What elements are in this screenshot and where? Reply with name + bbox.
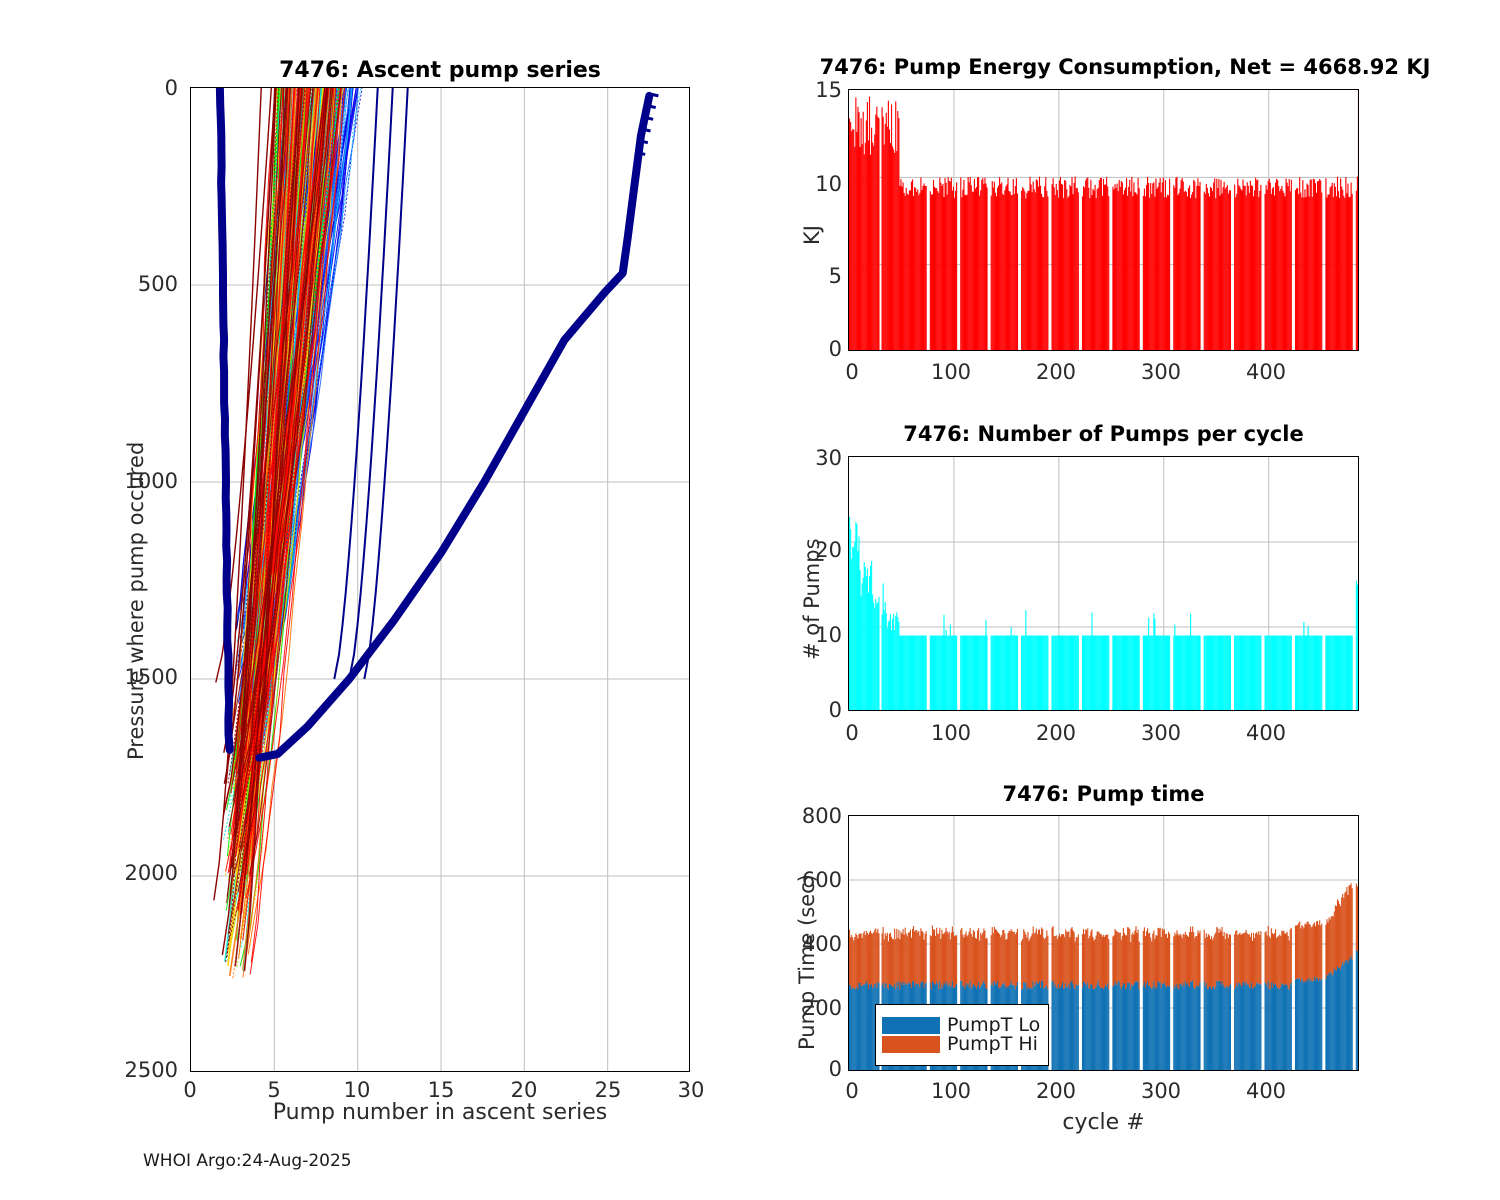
ascent-xtick-20: 20: [502, 1078, 546, 1102]
numpumps-xtick-400: 400: [1236, 721, 1296, 745]
legend-entry-pumpt-lo: PumpT Lo: [882, 1017, 1042, 1034]
ascent-xtick-25: 25: [586, 1078, 630, 1102]
ascent-ytick-2000: 2000: [120, 861, 178, 885]
legend-entry-pumpt-hi: PumpT Hi: [882, 1036, 1042, 1053]
pumptime-ytick-800: 800: [778, 804, 842, 828]
ascent-panel-title: 7476: Ascent pump series: [190, 58, 690, 83]
ascent-xtick-10: 10: [335, 1078, 379, 1102]
pumptime-ytick-600: 600: [778, 868, 842, 892]
legend-swatch-pumpt-hi: [882, 1036, 940, 1053]
ascent-ytick-500: 500: [120, 272, 178, 296]
numpumps-ytick-20: 20: [790, 538, 842, 562]
numpumps-xtick-100: 100: [921, 721, 981, 745]
energy-plot-svg: [849, 90, 1359, 351]
numpumps-plot-area[interactable]: [848, 456, 1359, 711]
energy-xtick-100: 100: [921, 360, 981, 384]
pumptime-ytick-400: 400: [778, 932, 842, 956]
energy-xtick-0: 0: [830, 360, 874, 384]
ascent-xtick-15: 15: [419, 1078, 463, 1102]
numpumps-ytick-30: 30: [790, 446, 842, 470]
numpumps-panel-title: 7476: Number of Pumps per cycle: [848, 422, 1359, 446]
legend-swatch-pumpt-lo: [882, 1017, 940, 1034]
energy-xtick-200: 200: [1026, 360, 1086, 384]
numpumps-ytick-0: 0: [790, 698, 842, 722]
ascent-xtick-0: 0: [168, 1078, 212, 1102]
ascent-plot-svg: [191, 88, 690, 1072]
ascent-plot-area[interactable]: [190, 87, 690, 1072]
pumptime-y-axis-label: Pump Time (sec): [795, 874, 819, 1050]
numpumps-xtick-300: 300: [1131, 721, 1191, 745]
energy-panel-title: 7476: Pump Energy Consumption, Net = 466…: [755, 55, 1495, 79]
ascent-xtick-5: 5: [252, 1078, 296, 1102]
energy-y-axis-label: KJ: [800, 225, 824, 245]
whoi-argo-stamp: WHOI Argo:24-Aug-2025: [143, 1151, 352, 1171]
legend-label-pumpt-hi: PumpT Hi: [947, 1036, 1038, 1053]
numpumps-xtick-200: 200: [1026, 721, 1086, 745]
pumptime-panel-title: 7476: Pump time: [848, 782, 1359, 806]
numpumps-plot-svg: [849, 457, 1359, 711]
ascent-ytick-1500: 1500: [120, 665, 178, 689]
energy-plot-area[interactable]: [848, 89, 1359, 351]
pumptime-ytick-0: 0: [778, 1057, 842, 1081]
numpumps-ytick-10: 10: [790, 623, 842, 647]
figure-canvas: 7476: Ascent pump series Pressure where …: [0, 0, 1500, 1200]
energy-xtick-300: 300: [1131, 360, 1191, 384]
pumptime-xtick-300: 300: [1131, 1079, 1191, 1103]
energy-ytick-10: 10: [790, 172, 842, 196]
ascent-x-axis-label: Pump number in ascent series: [190, 1100, 690, 1125]
legend-label-pumpt-lo: PumpT Lo: [947, 1017, 1040, 1034]
pumptime-ytick-200: 200: [778, 996, 842, 1020]
ascent-ytick-1000: 1000: [120, 469, 178, 493]
numpumps-xtick-0: 0: [830, 721, 874, 745]
energy-ytick-0: 0: [790, 337, 842, 361]
ascent-ytick-0: 0: [120, 76, 178, 100]
pumptime-xtick-100: 100: [921, 1079, 981, 1103]
pumptime-xtick-400: 400: [1236, 1079, 1296, 1103]
ascent-xtick-30: 30: [669, 1078, 713, 1102]
energy-xtick-400: 400: [1236, 360, 1296, 384]
energy-ytick-15: 15: [790, 78, 842, 102]
energy-ytick-5: 5: [790, 264, 842, 288]
pumptime-xtick-200: 200: [1026, 1079, 1086, 1103]
pumptime-x-axis-label: cycle #: [848, 1110, 1359, 1135]
pumptime-xtick-0: 0: [830, 1079, 874, 1103]
pumptime-legend: PumpT Lo PumpT Hi: [875, 1004, 1049, 1066]
